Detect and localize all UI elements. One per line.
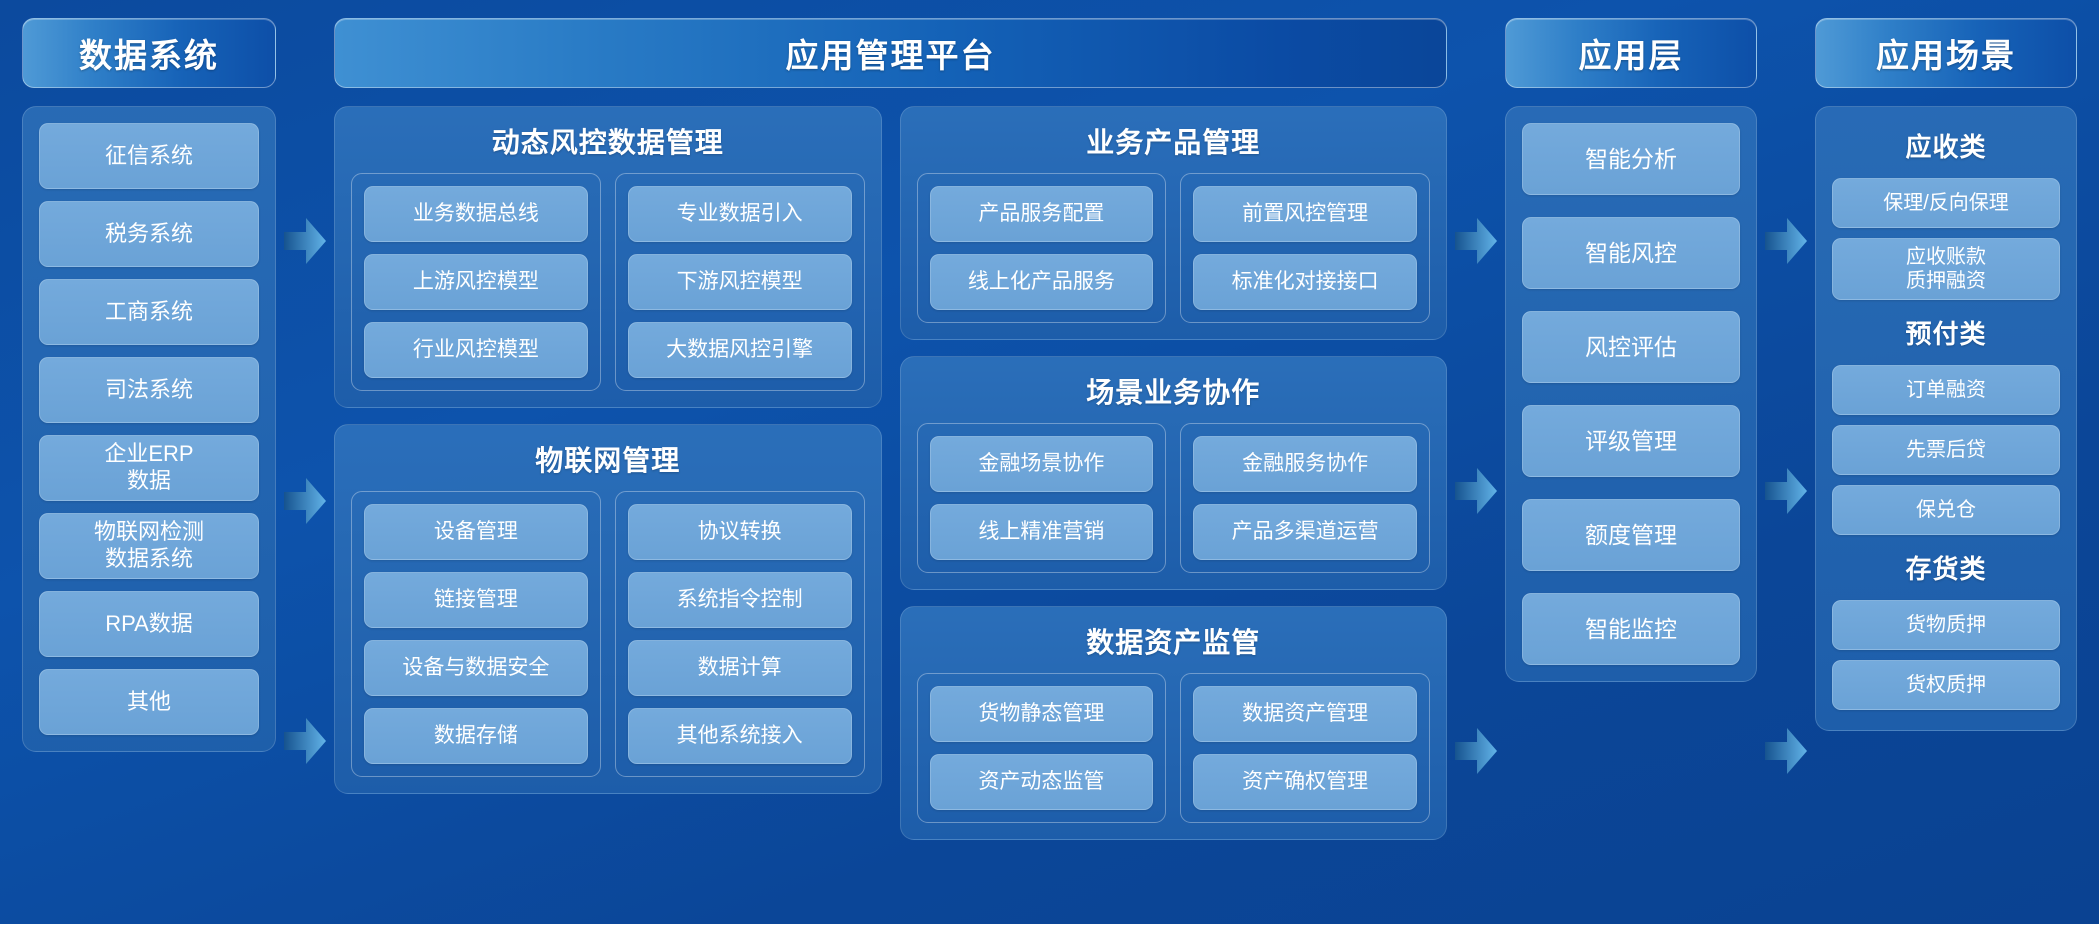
list-item[interactable]: RPA数据 xyxy=(39,591,259,657)
list-item[interactable]: 智能风控 xyxy=(1522,217,1740,289)
list-item[interactable]: 先票后贷 xyxy=(1832,425,2060,475)
list-item[interactable]: 货权质押 xyxy=(1832,660,2060,710)
list-item[interactable]: 企业ERP 数据 xyxy=(39,435,259,501)
list-item[interactable]: 数据存储 xyxy=(364,708,588,764)
list-item[interactable]: 系统指令控制 xyxy=(628,572,852,628)
header-platform: 应用管理平台 xyxy=(334,18,1447,88)
arrow-gutter-2 xyxy=(1447,18,1505,904)
column-application-layer: 应用层 智能分析 智能风控 风控评估 评级管理 额度管理 智能监控 xyxy=(1505,18,1757,682)
panel-columns: 产品服务配置 线上化产品服务 前置风控管理 标准化对接接口 xyxy=(917,173,1431,323)
list-item[interactable]: 资产动态监管 xyxy=(930,754,1154,810)
list-item[interactable]: 税务系统 xyxy=(39,201,259,267)
diagram-grid: 数据系统 征信系统 税务系统 工商系统 司法系统 企业ERP 数据 物联网检测 … xyxy=(0,0,2099,924)
list-item[interactable]: 货物静态管理 xyxy=(930,686,1154,742)
list-item[interactable]: 产品服务配置 xyxy=(930,186,1154,242)
arrow-right-icon xyxy=(1765,468,1807,514)
list-item[interactable]: 物联网检测 数据系统 xyxy=(39,513,259,579)
list-item[interactable]: 协议转换 xyxy=(628,504,852,560)
header-data-systems: 数据系统 xyxy=(22,18,276,88)
subgroup: 设备管理 链接管理 设备与数据安全 数据存储 xyxy=(351,491,601,777)
list-item[interactable]: 专业数据引入 xyxy=(628,186,852,242)
data-systems-list: 征信系统 税务系统 工商系统 司法系统 企业ERP 数据 物联网检测 数据系统 … xyxy=(39,123,259,735)
list-item[interactable]: 设备与数据安全 xyxy=(364,640,588,696)
arrow-right-icon xyxy=(284,218,326,264)
panel-title: 业务产品管理 xyxy=(917,121,1431,161)
list-item[interactable]: 风控评估 xyxy=(1522,311,1740,383)
list-item[interactable]: 额度管理 xyxy=(1522,499,1740,571)
list-item[interactable]: 大数据风控引擎 xyxy=(628,322,852,378)
subgroup: 货物静态管理 资产动态监管 xyxy=(917,673,1167,823)
list-item[interactable]: 前置风控管理 xyxy=(1193,186,1417,242)
list-item[interactable]: 征信系统 xyxy=(39,123,259,189)
subgroup: 专业数据引入 下游风控模型 大数据风控引擎 xyxy=(615,173,865,391)
column-scenarios: 应用场景 应收类 保理/反向保理 应收账款 质押融资 预付类 订单融资 先票后贷… xyxy=(1815,18,2077,731)
list-item[interactable]: 其他 xyxy=(39,669,259,735)
list-item[interactable]: 设备管理 xyxy=(364,504,588,560)
header-application-layer: 应用层 xyxy=(1505,18,1757,88)
scenario-group-receivables: 应收类 保理/反向保理 应收账款 质押融资 xyxy=(1832,123,2060,300)
list-item[interactable]: 标准化对接接口 xyxy=(1193,254,1417,310)
arrow-right-icon xyxy=(1765,218,1807,264)
list-item[interactable]: 线上精准营销 xyxy=(930,504,1154,560)
subgroup: 数据资产管理 资产确权管理 xyxy=(1180,673,1430,823)
list-item[interactable]: 保理/反向保理 xyxy=(1832,178,2060,228)
list-item[interactable]: 其他系统接入 xyxy=(628,708,852,764)
panel-columns: 货物静态管理 资产动态监管 数据资产管理 资产确权管理 xyxy=(917,673,1431,823)
panel-title: 数据资产监管 xyxy=(917,621,1431,661)
scenario-group-inventory: 存货类 货物质押 货权质押 xyxy=(1832,545,2060,710)
list-item[interactable]: 产品多渠道运营 xyxy=(1193,504,1417,560)
subgroup: 业务数据总线 上游风控模型 行业风控模型 xyxy=(351,173,601,391)
list-item[interactable]: 司法系统 xyxy=(39,357,259,423)
list-item[interactable]: 资产确权管理 xyxy=(1193,754,1417,810)
column-data-systems: 数据系统 征信系统 税务系统 工商系统 司法系统 企业ERP 数据 物联网检测 … xyxy=(22,18,276,752)
panel-title: 动态风控数据管理 xyxy=(351,121,865,161)
application-layer-card: 智能分析 智能风控 风控评估 评级管理 额度管理 智能监控 xyxy=(1505,106,1757,682)
list-item[interactable]: 下游风控模型 xyxy=(628,254,852,310)
arrow-right-icon xyxy=(284,478,326,524)
panel-columns: 金融场景协作 线上精准营销 金融服务协作 产品多渠道运营 xyxy=(917,423,1431,573)
arrow-right-icon xyxy=(1455,468,1497,514)
panel-data-asset-supervision: 数据资产监管 货物静态管理 资产动态监管 数据资产管理 资产确权管理 xyxy=(900,606,1448,840)
panel-iot-management: 物联网管理 设备管理 链接管理 设备与数据安全 数据存储 协议转换 系统指令控制 xyxy=(334,424,882,794)
scenario-group-title: 预付类 xyxy=(1832,314,2060,351)
list-item[interactable]: 业务数据总线 xyxy=(364,186,588,242)
list-item[interactable]: 保兑仓 xyxy=(1832,485,2060,535)
scenario-group-prepaid: 预付类 订单融资 先票后贷 保兑仓 xyxy=(1832,310,2060,535)
panel-title: 场景业务协作 xyxy=(917,371,1431,411)
application-layer-list: 智能分析 智能风控 风控评估 评级管理 额度管理 智能监控 xyxy=(1522,123,1740,665)
platform-left-stack: 动态风控数据管理 业务数据总线 上游风控模型 行业风控模型 专业数据引入 下游风… xyxy=(334,106,882,840)
panel-title: 物联网管理 xyxy=(351,439,865,479)
panel-scenario-business-collaboration: 场景业务协作 金融场景协作 线上精准营销 金融服务协作 产品多渠道运营 xyxy=(900,356,1448,590)
column-platform: 应用管理平台 动态风控数据管理 业务数据总线 上游风控模型 行业风控模型 xyxy=(334,18,1447,840)
arrow-right-icon xyxy=(284,718,326,764)
scenarios-card: 应收类 保理/反向保理 应收账款 质押融资 预付类 订单融资 先票后贷 保兑仓 … xyxy=(1815,106,2077,731)
panel-columns: 业务数据总线 上游风控模型 行业风控模型 专业数据引入 下游风控模型 大数据风控… xyxy=(351,173,865,391)
platform-panels: 动态风控数据管理 业务数据总线 上游风控模型 行业风控模型 专业数据引入 下游风… xyxy=(334,106,1447,840)
list-item[interactable]: 智能分析 xyxy=(1522,123,1740,195)
list-item[interactable]: 数据资产管理 xyxy=(1193,686,1417,742)
arrow-right-icon xyxy=(1455,218,1497,264)
subgroup: 金融场景协作 线上精准营销 xyxy=(917,423,1167,573)
arrow-right-icon xyxy=(1765,728,1807,774)
scenario-group-title: 存货类 xyxy=(1832,549,2060,586)
list-item[interactable]: 线上化产品服务 xyxy=(930,254,1154,310)
arrow-gutter-3 xyxy=(1757,18,1815,904)
subgroup: 前置风控管理 标准化对接接口 xyxy=(1180,173,1430,323)
subgroup: 协议转换 系统指令控制 数据计算 其他系统接入 xyxy=(615,491,865,777)
list-item[interactable]: 订单融资 xyxy=(1832,365,2060,415)
arrow-right-icon xyxy=(1455,728,1497,774)
scenario-group-title: 应收类 xyxy=(1832,127,2060,164)
list-item[interactable]: 金融服务协作 xyxy=(1193,436,1417,492)
list-item[interactable]: 数据计算 xyxy=(628,640,852,696)
list-item[interactable]: 链接管理 xyxy=(364,572,588,628)
subgroup: 产品服务配置 线上化产品服务 xyxy=(917,173,1167,323)
panel-columns: 设备管理 链接管理 设备与数据安全 数据存储 协议转换 系统指令控制 数据计算 … xyxy=(351,491,865,777)
subgroup: 金融服务协作 产品多渠道运营 xyxy=(1180,423,1430,573)
list-item[interactable]: 应收账款 质押融资 xyxy=(1832,238,2060,300)
list-item[interactable]: 工商系统 xyxy=(39,279,259,345)
panel-dynamic-risk-data: 动态风控数据管理 业务数据总线 上游风控模型 行业风控模型 专业数据引入 下游风… xyxy=(334,106,882,408)
header-scenarios: 应用场景 xyxy=(1815,18,2077,88)
platform-right-stack: 业务产品管理 产品服务配置 线上化产品服务 前置风控管理 标准化对接接口 xyxy=(900,106,1448,840)
list-item[interactable]: 货物质押 xyxy=(1832,600,2060,650)
list-item[interactable]: 行业风控模型 xyxy=(364,322,588,378)
list-item[interactable]: 智能监控 xyxy=(1522,593,1740,665)
arrow-gutter-1 xyxy=(276,18,334,904)
list-item[interactable]: 上游风控模型 xyxy=(364,254,588,310)
list-item[interactable]: 评级管理 xyxy=(1522,405,1740,477)
panel-business-product-management: 业务产品管理 产品服务配置 线上化产品服务 前置风控管理 标准化对接接口 xyxy=(900,106,1448,340)
data-systems-card: 征信系统 税务系统 工商系统 司法系统 企业ERP 数据 物联网检测 数据系统 … xyxy=(22,106,276,752)
diagram-canvas: 数据系统 征信系统 税务系统 工商系统 司法系统 企业ERP 数据 物联网检测 … xyxy=(0,0,2099,950)
list-item[interactable]: 金融场景协作 xyxy=(930,436,1154,492)
scenarios-list: 应收类 保理/反向保理 应收账款 质押融资 预付类 订单融资 先票后贷 保兑仓 … xyxy=(1832,123,2060,714)
